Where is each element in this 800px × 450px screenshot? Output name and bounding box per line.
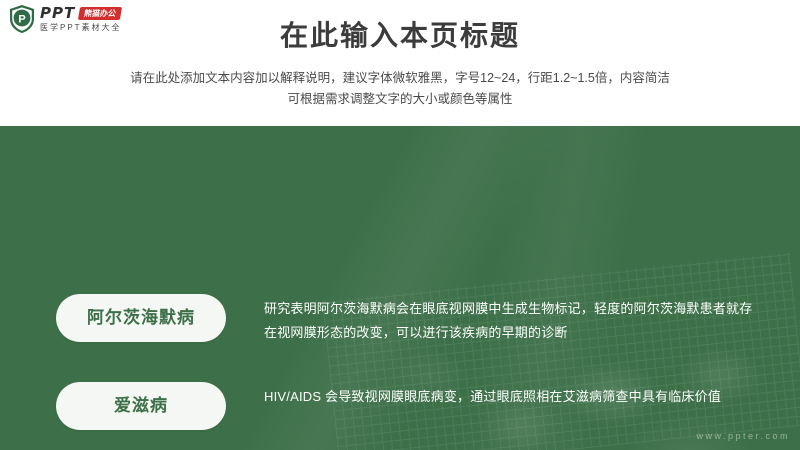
pill-label: 爱滋病 [114, 396, 168, 416]
content-row: 爱滋病 HIV/AIDS 会导致视网膜眼底病变，通过眼底照相在艾滋病筛查中具有临… [56, 382, 756, 430]
page-title: 在此输入本页标题 [0, 18, 800, 54]
footer-watermark-url: www.ppter.com [696, 431, 790, 441]
subtitle-line-2: 可根据需求调整文字的大小或颜色等属性 [0, 89, 800, 110]
content-panel: Lansoprazol 20 mg enterotabletter / tvåt… [0, 126, 800, 450]
disease-pill-aids[interactable]: 爱滋病 [56, 382, 226, 430]
disease-pill-alzheimer[interactable]: 阿尔茨海默病 [56, 294, 226, 342]
pill-label: 阿尔茨海默病 [87, 308, 195, 328]
page-subtitle: 请在此处添加文本内容加以解释说明，建议字体微软雅黑，字号12~24，行距1.2~… [0, 68, 800, 110]
row-description: 研究表明阿尔茨海默病会在眼底视网膜中生成生物标记，轻度的阿尔茨海默患者就存在视网… [264, 294, 756, 345]
content-row: 阿尔茨海默病 研究表明阿尔茨海默病会在眼底视网膜中生成生物标记，轻度的阿尔茨海默… [56, 294, 756, 345]
slide-canvas: P PPT 熊猫办公 医学PPT素材大全 在此输入本页标题 请在此处添加文本内容… [0, 0, 800, 450]
row-description: HIV/AIDS 会导致视网膜眼底病变，通过眼底照相在艾滋病筛查中具有临床价值 [264, 382, 721, 409]
subtitle-line-1: 请在此处添加文本内容加以解释说明，建议字体微软雅黑，字号12~24，行距1.2~… [0, 68, 800, 89]
